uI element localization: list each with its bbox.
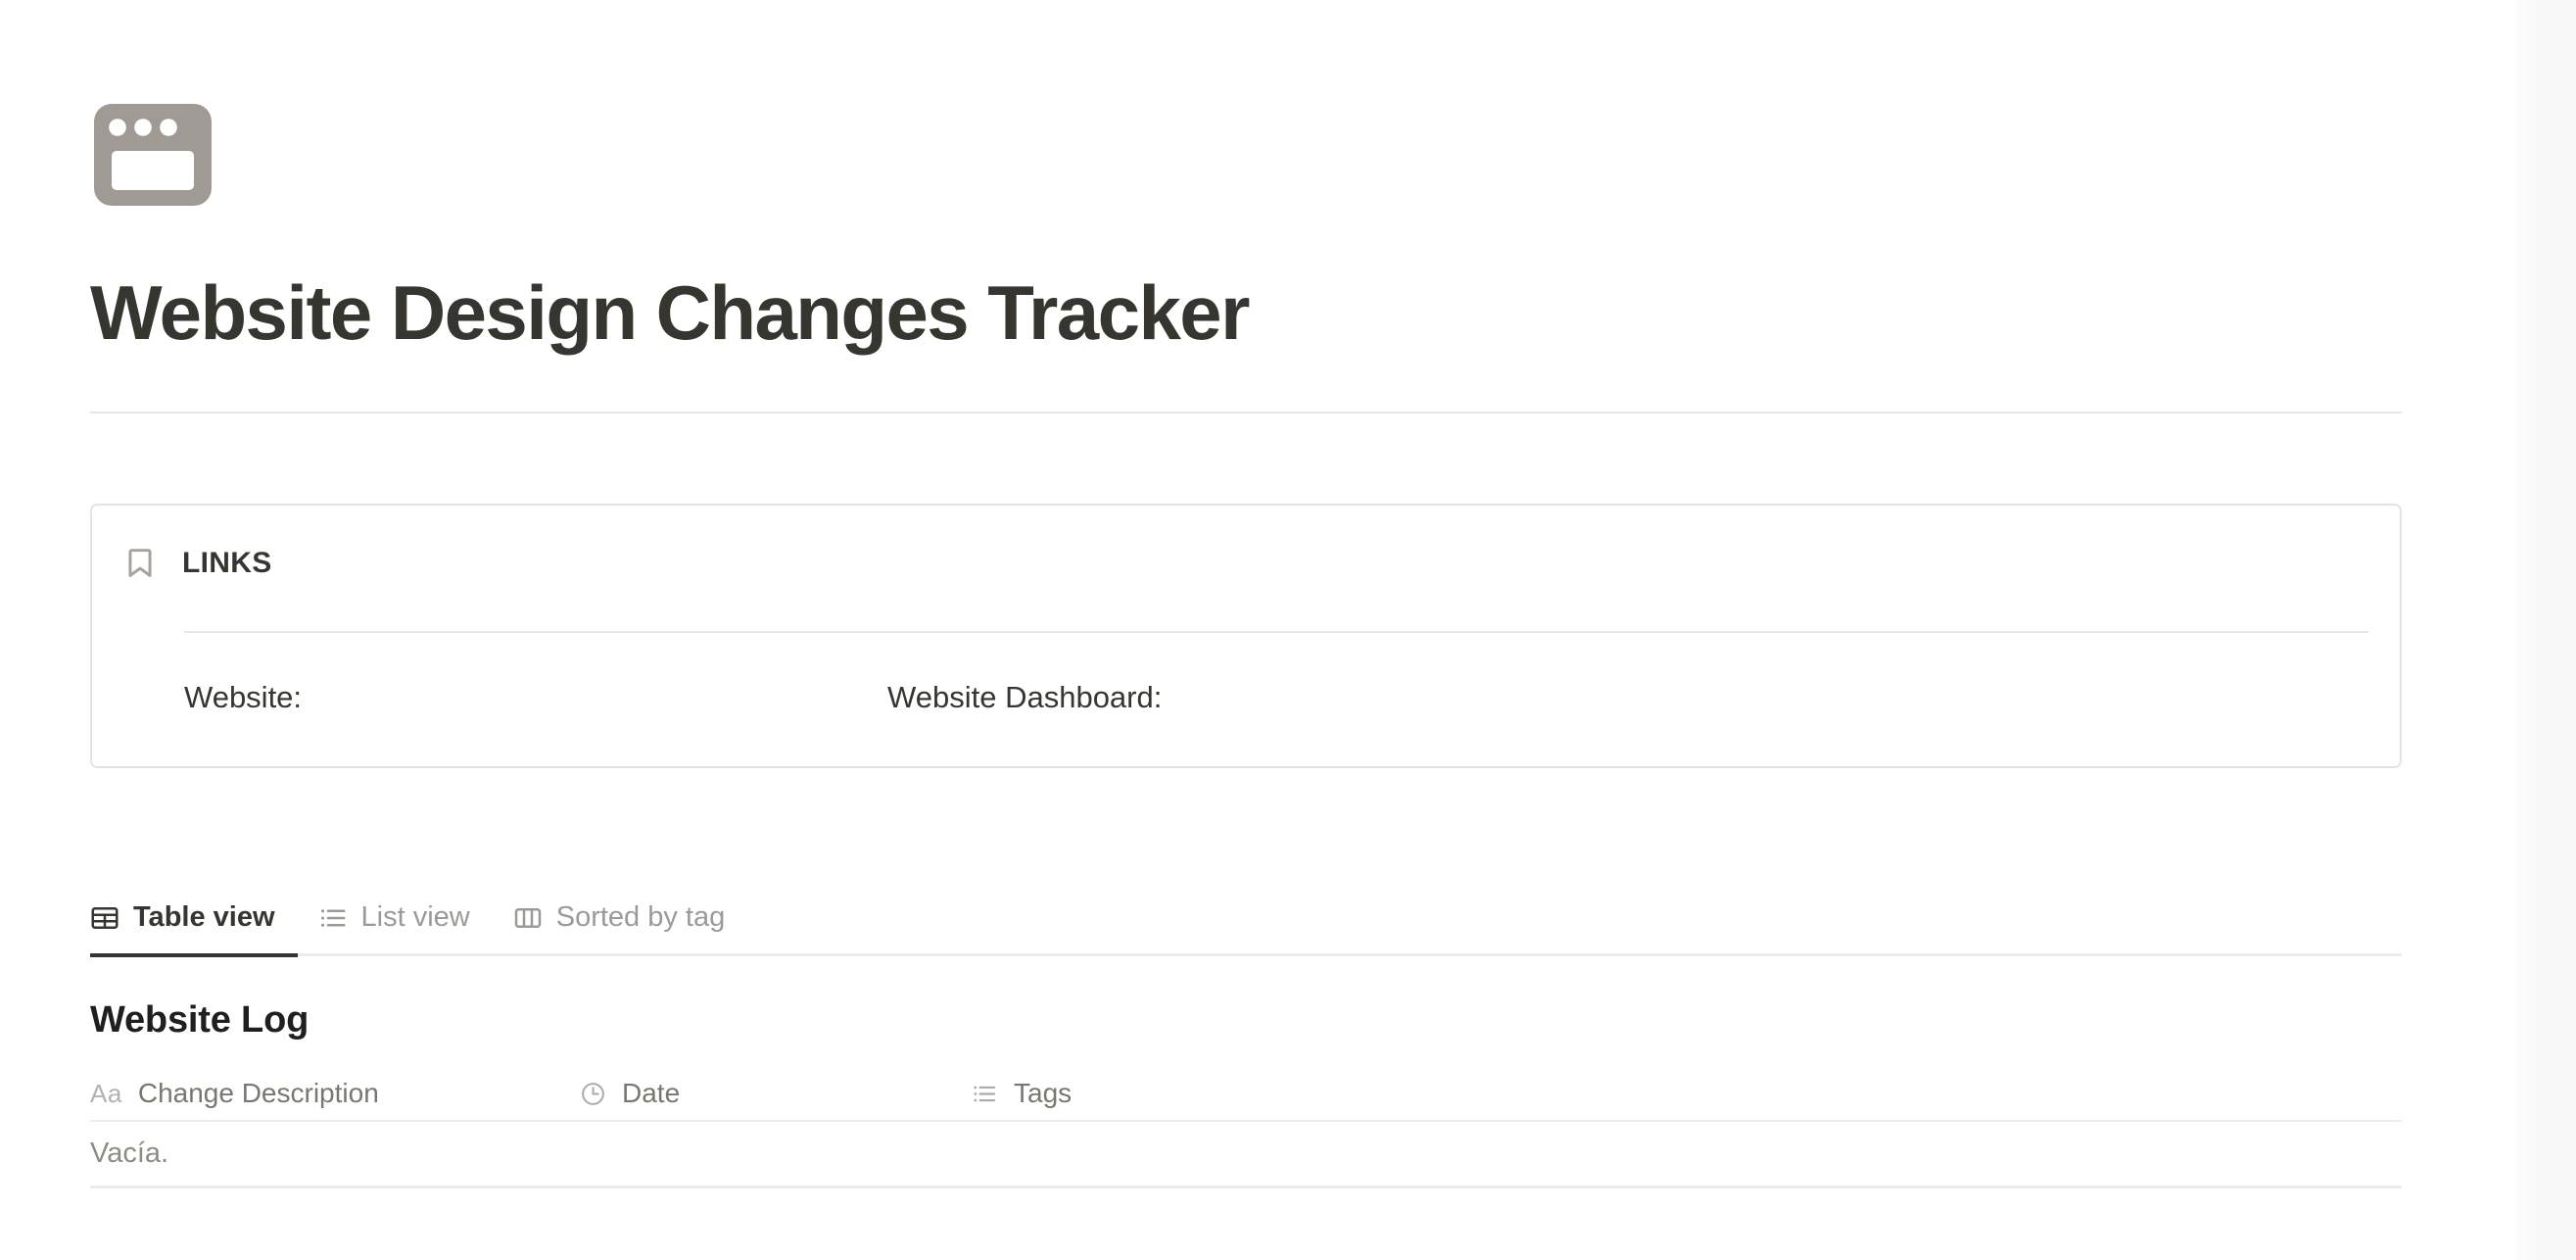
- page-title[interactable]: Website Design Changes Tracker: [90, 274, 2402, 351]
- active-tab-indicator: [90, 953, 298, 957]
- title-divider: [90, 412, 2402, 413]
- links-card: LINKS Website: Website Dashboard:: [90, 504, 2402, 768]
- tab-table-view[interactable]: Table view: [90, 901, 297, 934]
- links-card-header: LINKS: [92, 506, 2400, 580]
- bookmark-icon: [123, 547, 157, 580]
- column-header-date-label: Date: [622, 1078, 680, 1109]
- website-link-field[interactable]: Website:: [184, 678, 302, 717]
- tab-table-view-label: Table view: [133, 901, 275, 934]
- column-header-tags-label: Tags: [1014, 1078, 1072, 1109]
- page-edge-shadow: [2507, 0, 2576, 1260]
- database-table: Aa Change Description Date: [90, 1067, 2402, 1188]
- notion-page: Website Design Changes Tracker LINKS Web…: [0, 0, 2576, 1260]
- links-fields-row: Website: Website Dashboard:: [92, 678, 2400, 717]
- table-empty-state-row[interactable]: Vacía.: [90, 1122, 2402, 1188]
- multi-select-list-icon: [972, 1081, 998, 1107]
- clock-icon: [580, 1081, 606, 1107]
- column-header-date[interactable]: Date: [580, 1078, 972, 1109]
- text-aa-icon: Aa: [90, 1079, 122, 1109]
- tab-list-view-label: List view: [361, 901, 470, 934]
- links-heading: LINKS: [182, 547, 272, 580]
- table-header-row: Aa Change Description Date: [90, 1067, 2402, 1122]
- column-header-tags[interactable]: Tags: [972, 1078, 1363, 1109]
- tab-list-view[interactable]: List view: [318, 901, 492, 934]
- view-tabs-rule: [90, 953, 2402, 956]
- database-title[interactable]: Website Log: [90, 999, 2402, 1042]
- browser-window-icon[interactable]: [90, 92, 215, 218]
- table-empty-state-text: Vacía.: [90, 1138, 168, 1170]
- column-header-change-description-label: Change Description: [138, 1078, 379, 1109]
- website-dashboard-link-field[interactable]: Website Dashboard:: [887, 678, 1162, 717]
- column-header-change-description[interactable]: Aa Change Description: [90, 1078, 580, 1109]
- board-columns-icon: [513, 903, 543, 933]
- page-content: Website Design Changes Tracker LINKS Web…: [90, 0, 2402, 1188]
- tab-sorted-by-tag-label: Sorted by tag: [556, 901, 726, 934]
- list-icon: [318, 903, 348, 933]
- view-tabs: Table view List view: [90, 901, 2402, 953]
- links-header-underline: [184, 631, 2368, 633]
- database-views: Table view List view: [90, 901, 2402, 956]
- tab-sorted-by-tag[interactable]: Sorted by tag: [513, 901, 747, 934]
- table-grid-icon: [90, 903, 119, 933]
